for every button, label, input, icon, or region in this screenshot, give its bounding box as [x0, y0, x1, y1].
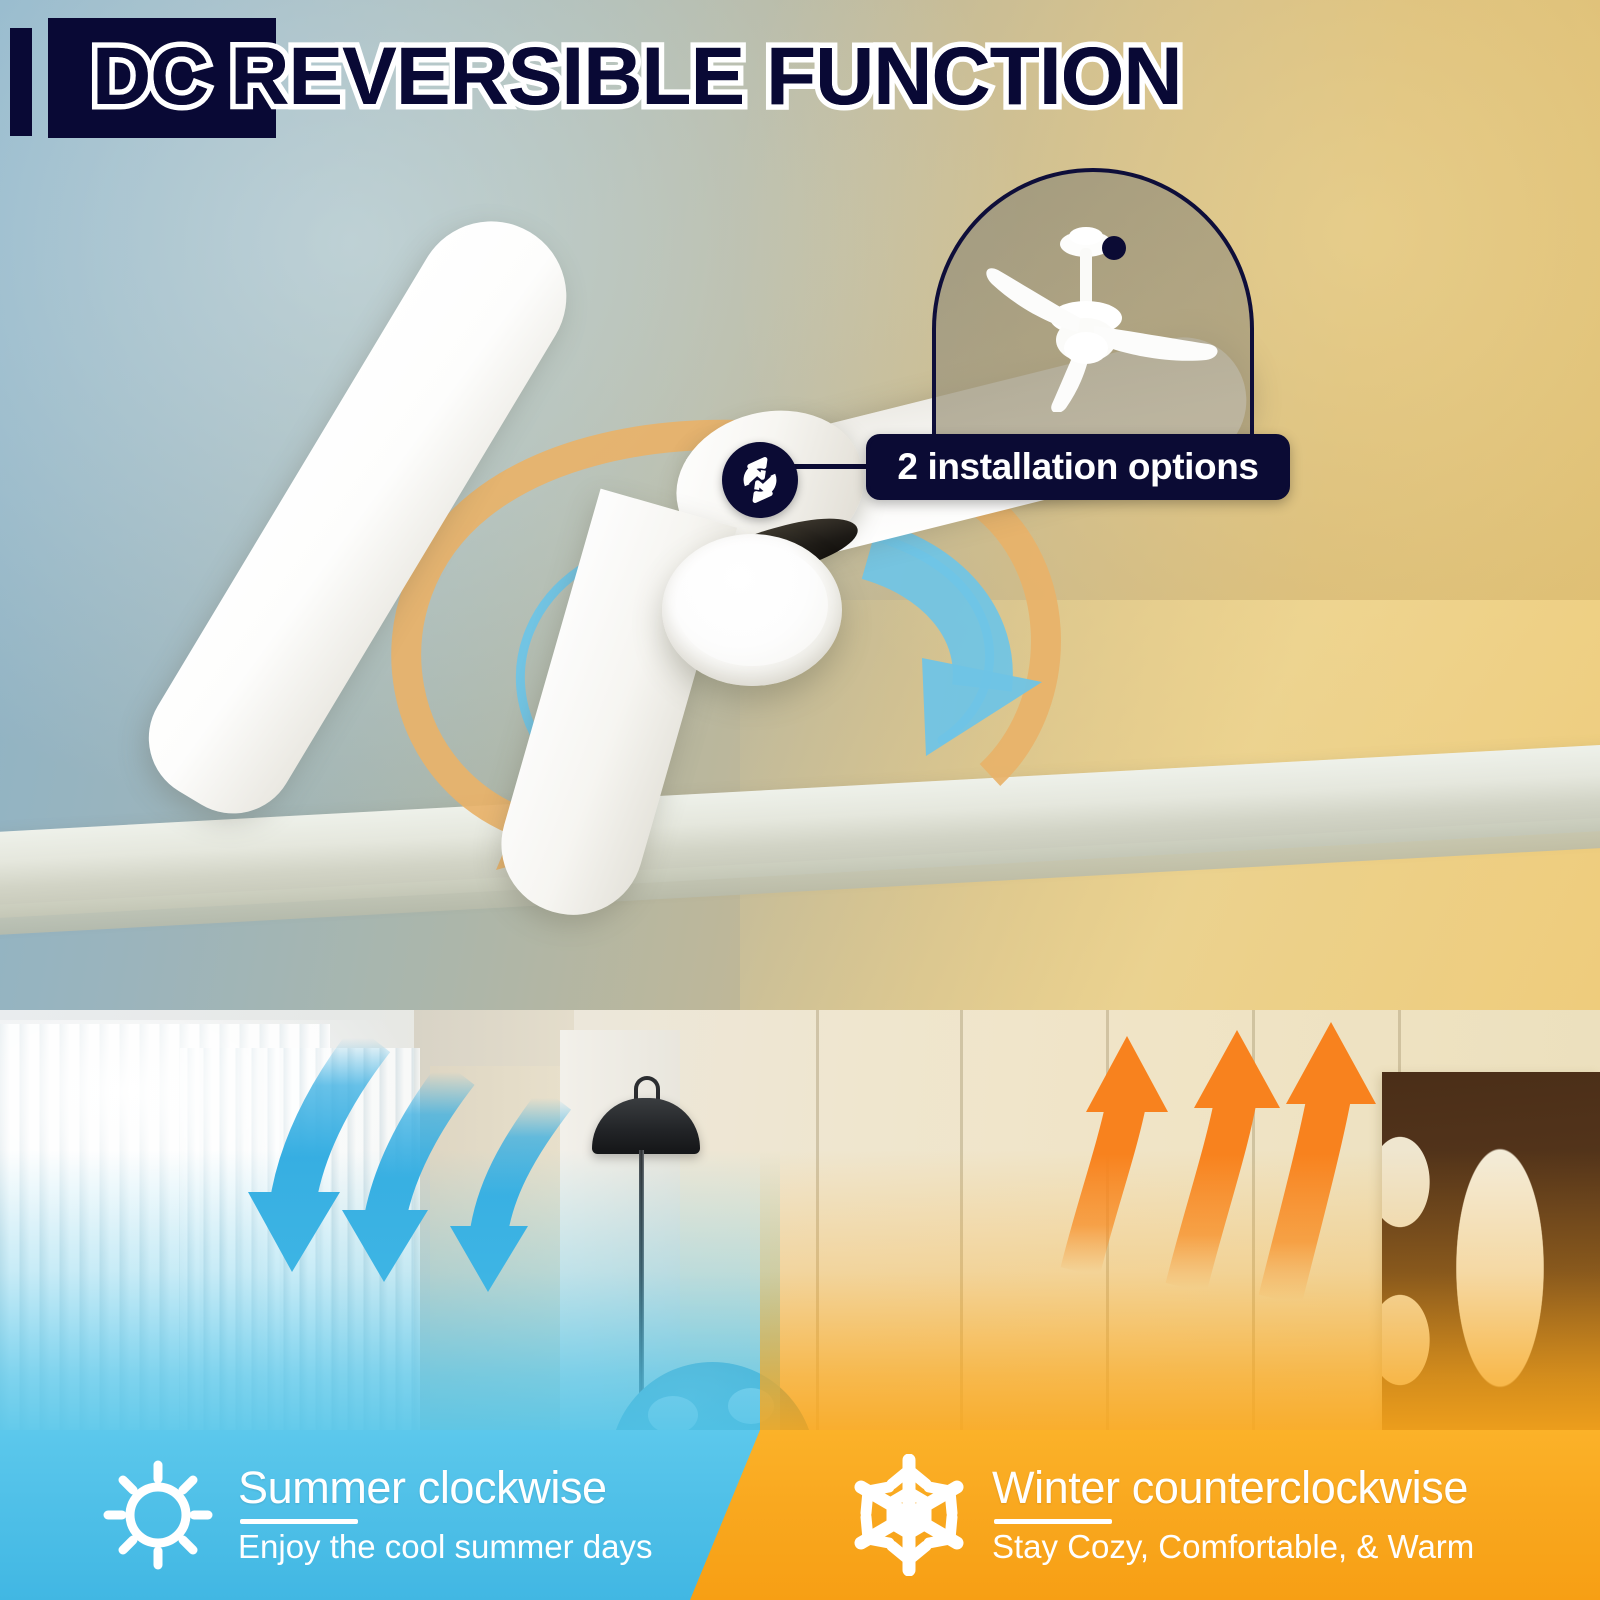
product-feature-banner: 2 installation options DC REVERSIBLE FUN… — [0, 0, 1600, 1600]
title-accent-bar — [10, 28, 32, 136]
installation-options-label: 2 installation options — [897, 446, 1258, 488]
winter-subtitle: Stay Cozy, Comfortable, & Warm — [992, 1530, 1474, 1565]
warm-airflow-arrow — [1080, 1036, 1168, 1272]
summer-bar-content: Summer clockwise Enjoy the cool summer d… — [100, 1430, 653, 1600]
winter-underline — [994, 1519, 1112, 1524]
page-title: DC REVERSIBLE FUNCTION — [92, 18, 1182, 136]
winter-title: Winter counterclockwise — [992, 1465, 1474, 1512]
fan-light-lens — [676, 544, 828, 666]
cool-airflow-arrow — [450, 1098, 556, 1292]
airflow-arrows — [0, 1000, 1600, 1440]
summer-underline — [240, 1519, 358, 1524]
summer-title: Summer clockwise — [238, 1465, 653, 1512]
sun-icon — [100, 1457, 216, 1573]
snowflake-icon — [848, 1454, 970, 1576]
cool-airflow-arrow — [342, 1072, 458, 1282]
downrod-fan-icon — [962, 222, 1224, 412]
warm-airflow-arrow — [1280, 1022, 1376, 1300]
warm-airflow-arrow — [1186, 1030, 1280, 1288]
installation-options-badge[interactable]: 2 installation options — [866, 434, 1290, 500]
winter-bar-content: Winter counterclockwise Stay Cozy, Comfo… — [848, 1430, 1474, 1600]
summer-subtitle: Enjoy the cool summer days — [238, 1530, 653, 1565]
cool-airflow-arrow — [248, 1038, 372, 1272]
reverse-rotation-icon — [722, 442, 798, 518]
